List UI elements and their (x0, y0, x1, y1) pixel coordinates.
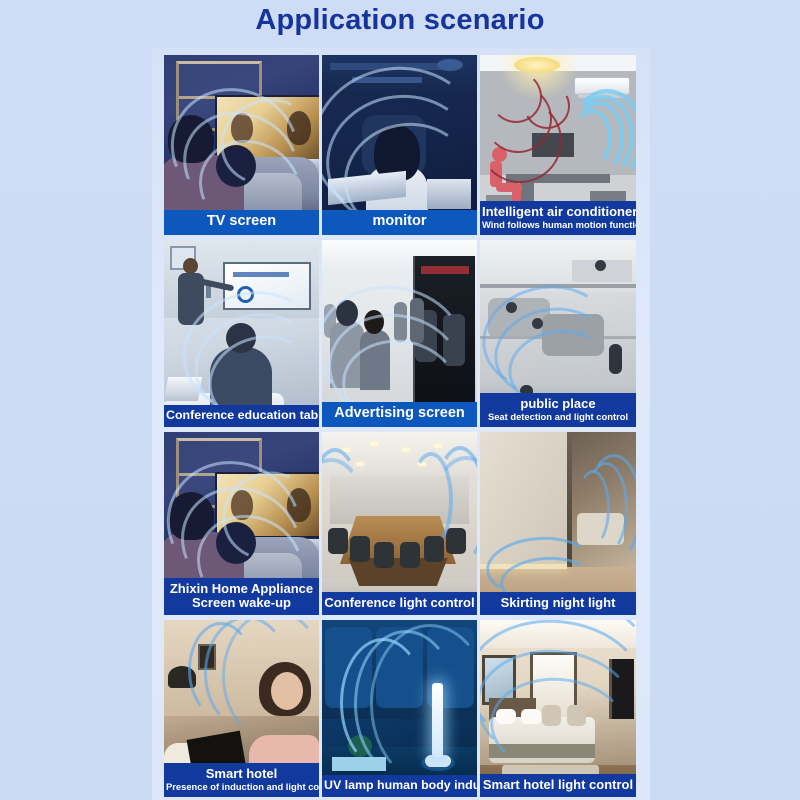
monitor-image (322, 55, 477, 235)
caption-title: Advertising screen (324, 406, 475, 422)
caption-title: public place (482, 397, 634, 411)
caption-bar: UV lamp human body induction (322, 775, 477, 797)
advertising-screen-image (322, 240, 477, 427)
scenario-tile-uv-lamp[interactable]: UV lamp human body induction (322, 620, 477, 797)
caption-title: Smart hotel light control (482, 778, 634, 792)
scenario-tile-smart-hotel[interactable]: Smart hotel Presence of induction and li… (164, 620, 319, 797)
tv-screen-image (164, 55, 319, 235)
scenario-tile-intelligent-air-conditioner[interactable]: Intelligent air conditioner Wind follows… (480, 55, 636, 235)
smart-hotel-light-control-image (480, 620, 636, 797)
scenario-grid: TV screen monitor (164, 55, 636, 797)
caption-bar: monitor (322, 210, 477, 235)
caption-title: monitor (324, 214, 475, 230)
caption-title: Skirting night light (482, 596, 634, 610)
conference-light-control-image (322, 432, 477, 615)
caption-bar: TV screen (164, 210, 319, 235)
caption-bar: Zhixin Home Appliance Screen wake-up (164, 578, 319, 615)
scenario-tile-advertising-screen[interactable]: Advertising screen (322, 240, 477, 427)
caption-bar: Smart hotel Presence of induction and li… (164, 763, 319, 797)
caption-bar: Intelligent air conditioner Wind follows… (480, 201, 636, 235)
scenario-tile-monitor[interactable]: monitor (322, 55, 477, 235)
caption-title: Intelligent air conditioner (482, 205, 634, 219)
uv-lamp-image (322, 620, 477, 797)
caption-title: Conference education tablet (166, 409, 317, 422)
caption-subtitle: Screen wake-up (166, 596, 317, 610)
caption-bar: Advertising screen (322, 402, 477, 427)
skirting-night-light-image (480, 432, 636, 615)
caption-bar: Smart hotel light control (480, 774, 636, 797)
caption-title: TV screen (166, 214, 317, 230)
caption-subtitle: Presence of induction and light control (166, 782, 317, 792)
scenario-tile-zhixin-home-appliance[interactable]: Zhixin Home Appliance Screen wake-up (164, 432, 319, 615)
scenario-tile-conference-light-control[interactable]: Conference light control (322, 432, 477, 615)
conference-education-image (164, 240, 319, 427)
caption-title: Smart hotel (166, 767, 317, 781)
caption-subtitle: Seat detection and light control (482, 412, 634, 422)
caption-bar: Skirting night light (480, 592, 636, 615)
caption-bar: public place Seat detection and light co… (480, 393, 636, 427)
page-title: Application scenario (0, 4, 800, 37)
application-scenario-page: Application scenario TV screen (0, 0, 800, 800)
scenario-tile-tv-screen[interactable]: TV screen (164, 55, 319, 235)
caption-subtitle: Wind follows human motion function (482, 220, 634, 230)
scenario-tile-public-place[interactable]: public place Seat detection and light co… (480, 240, 636, 427)
caption-title: UV lamp human body induction (324, 779, 475, 792)
scenario-tile-conference-education-tablet[interactable]: Conference education tablet (164, 240, 319, 427)
scenario-tile-smart-hotel-light-control[interactable]: Smart hotel light control (480, 620, 636, 797)
caption-title: Zhixin Home Appliance (166, 582, 317, 596)
caption-title: Conference light control (324, 596, 475, 610)
caption-bar: Conference light control (322, 592, 477, 615)
scenario-tile-skirting-night-light[interactable]: Skirting night light (480, 432, 636, 615)
caption-bar: Conference education tablet (164, 405, 319, 427)
